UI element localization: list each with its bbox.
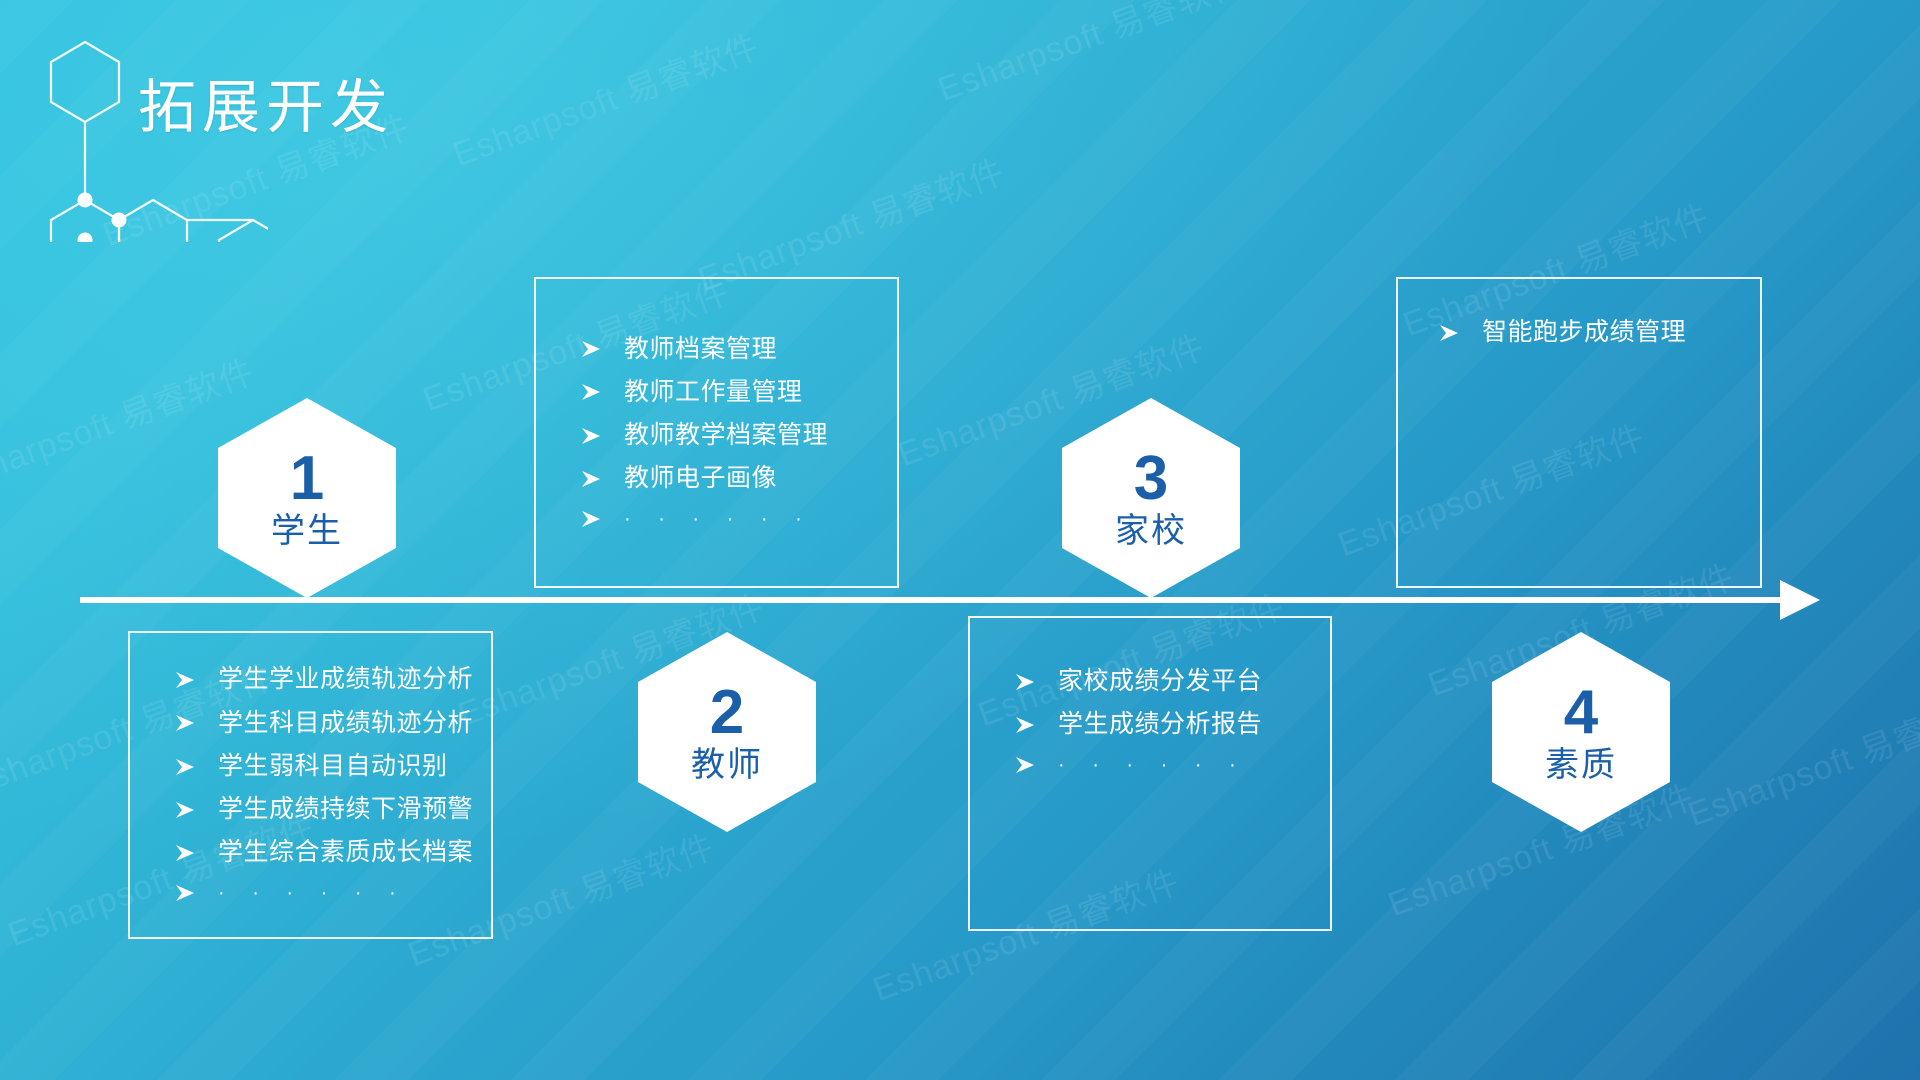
node-hexagon-1[interactable]: 1 学生 [218,398,396,598]
list-item-label: · · · · · · [624,507,813,532]
arrow-bullet-icon [1014,671,1036,693]
list-item-label: 学生成绩分析报告 [1058,709,1262,740]
node-hexagon-4[interactable]: 4 素质 [1492,632,1670,832]
arrow-bullet-icon [174,669,196,691]
arrow-bullet-icon [1014,714,1036,736]
student-feature-box: 学生学业成绩轨迹分析 学生科目成绩轨迹分析 学生弱科目自动识别 学生成绩持续下滑… [128,631,493,939]
slide-canvas: 拓展开发 1 学生 2 教师 3 家校 4 素质 教师档案管理 教师 [0,0,1920,1080]
list-item-label: 教师档案管理 [624,334,777,365]
list-item: 学生成绩分析报告 [992,703,1308,746]
arrow-bullet-icon [1014,754,1036,776]
arrow-bullet-icon [174,882,196,904]
teacher-feature-box: 教师档案管理 教师工作量管理 教师教学档案管理 教师电子画像 · · · · ·… [534,277,899,588]
list-item: 教师档案管理 [558,328,875,371]
watermark-text: Esharpsoft 易睿软件 [1680,680,1920,837]
list-item-label: 学生学业成绩轨迹分析 [218,664,473,695]
list-item: 教师电子画像 [558,457,875,500]
node-hexagon-3[interactable]: 3 家校 [1062,398,1240,598]
list-item-label: 学生综合素质成长档案 [218,837,473,868]
list-item: 学生弱科目自动识别 [152,745,469,788]
node-number: 3 [1134,448,1168,510]
arrow-bullet-icon [1438,322,1460,344]
timeline-axis [80,596,1840,604]
arrow-bullet-icon [580,468,602,490]
list-item-label: · · · · · · [1058,753,1247,778]
node-label: 素质 [1545,748,1617,782]
node-label: 学生 [271,514,343,548]
node-hexagon-2[interactable]: 2 教师 [638,632,816,832]
timeline-arrow-head-icon [1780,580,1820,620]
list-item-label: 学生成绩持续下滑预警 [218,794,473,825]
arrow-bullet-icon [580,381,602,403]
list-item: · · · · · · [152,875,469,912]
arrow-bullet-icon [174,712,196,734]
arrow-bullet-icon [580,425,602,447]
arrow-bullet-icon [580,508,602,530]
list-item: · · · · · · [992,747,1308,784]
list-item: · · · · · · [558,501,875,538]
list-item: 智能跑步成绩管理 [1420,317,1738,348]
list-item-label: 智能跑步成绩管理 [1482,317,1686,348]
list-item: 学生学业成绩轨迹分析 [152,658,469,701]
list-item: 家校成绩分发平台 [992,660,1308,703]
watermark-text: Esharpsoft 易睿软件 [445,20,765,177]
arrow-bullet-icon [174,799,196,821]
list-item: 教师工作量管理 [558,371,875,414]
page-title-text: 拓展开发 [138,78,394,139]
timeline-axis-line [80,597,1785,603]
quality-feature-box: 智能跑步成绩管理 [1396,277,1762,588]
family-school-feature-box: 家校成绩分发平台 学生成绩分析报告 · · · · · · [968,616,1332,931]
list-item: 学生综合素质成长档案 [152,831,469,874]
node-number: 1 [290,448,324,510]
list-item: 学生科目成绩轨迹分析 [152,702,469,745]
list-item-label: 家校成绩分发平台 [1058,666,1262,697]
list-item-label: · · · · · · [218,881,407,906]
node-label: 教师 [691,748,763,782]
list-item-label: 教师工作量管理 [624,377,803,408]
list-item-label: 教师电子画像 [624,463,777,494]
page-title: 拓展开发 [138,78,394,139]
list-item-label: 学生科目成绩轨迹分析 [218,708,473,739]
list-item-label: 学生弱科目自动识别 [218,751,448,782]
node-label: 家校 [1115,514,1187,548]
node-number: 4 [1564,682,1598,744]
arrow-bullet-icon [580,338,602,360]
watermark-text: Esharpsoft 易睿软件 [930,0,1250,111]
list-item: 教师教学档案管理 [558,414,875,457]
arrow-bullet-icon [174,842,196,864]
node-number: 2 [710,682,744,744]
arrow-bullet-icon [174,756,196,778]
list-item-label: 教师教学档案管理 [624,420,828,451]
list-item: 学生成绩持续下滑预警 [152,788,469,831]
